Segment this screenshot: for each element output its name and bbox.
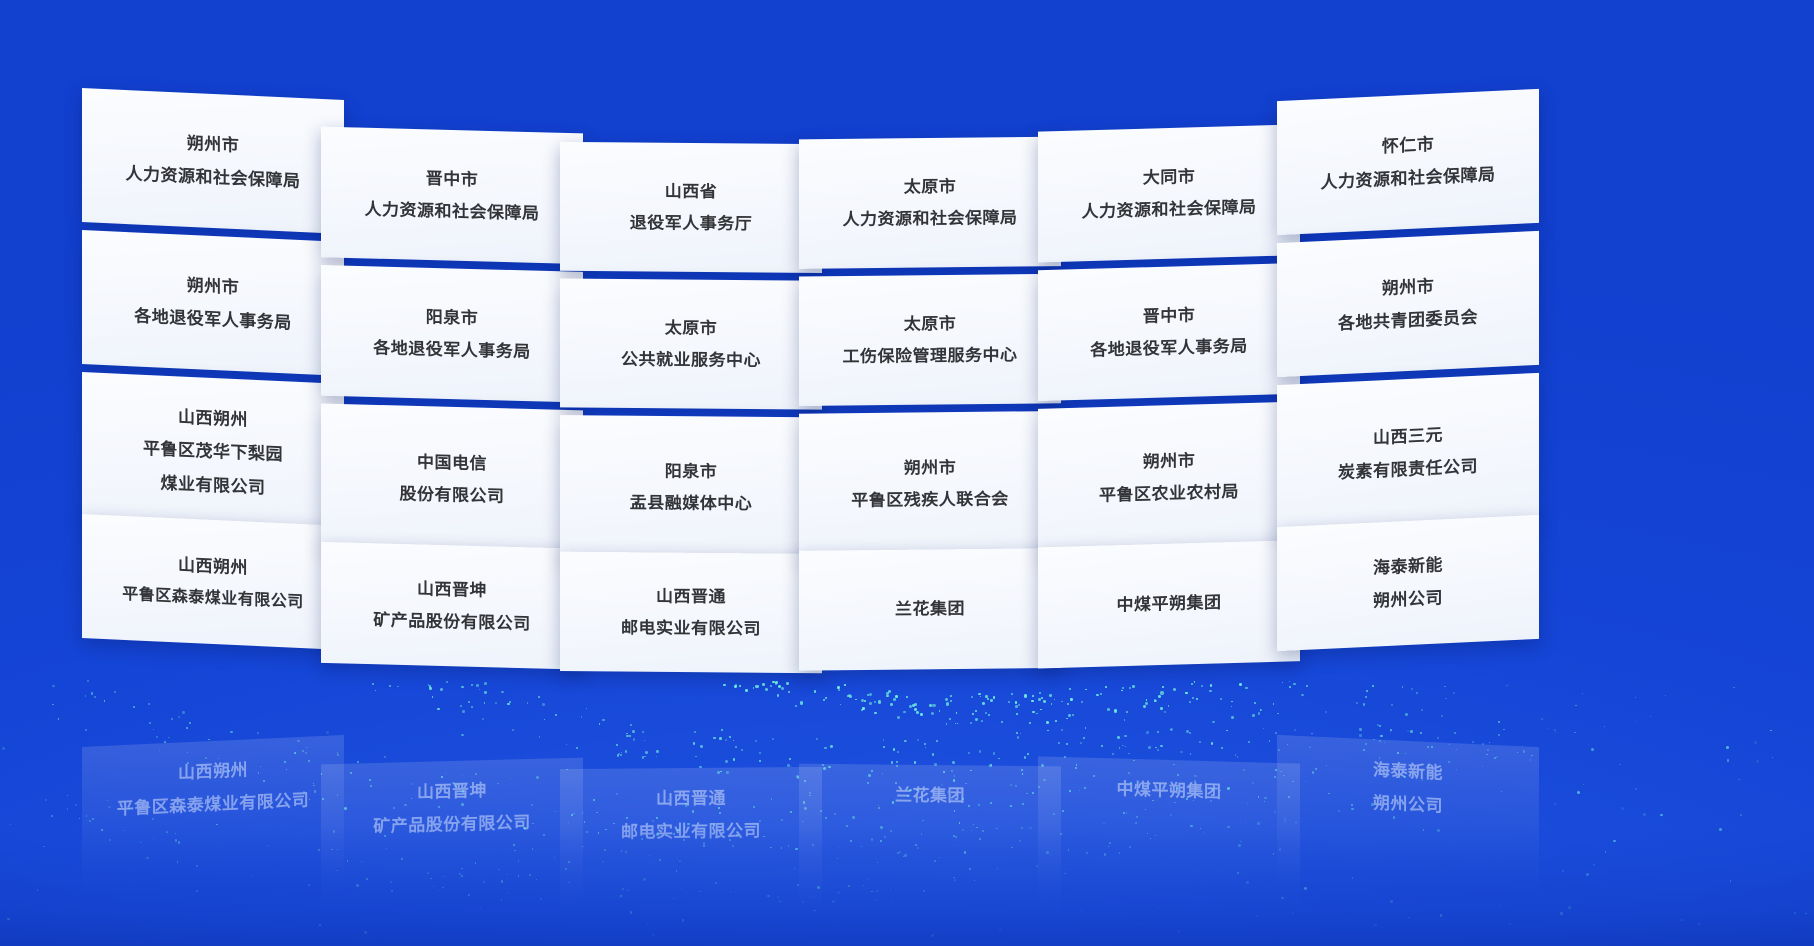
particle-dot <box>7 918 10 921</box>
particle-dot <box>1756 760 1759 763</box>
reflection-column-2: 山西晋坤矿产品股份有限公司 <box>321 757 583 764</box>
particle-dot <box>208 739 209 740</box>
partner-card-line: 山西朔州 <box>178 548 248 584</box>
partner-card-line: 怀仁市 <box>1382 128 1435 164</box>
partner-card[interactable]: 山西三元炭素有限责任公司 <box>1277 373 1539 533</box>
particle-dot <box>772 738 774 740</box>
partner-card-line: 炭素有限责任公司 <box>1338 450 1478 490</box>
particle-dot <box>539 736 541 738</box>
reflection-card-line: 山西晋通 <box>656 782 726 816</box>
partner-card[interactable]: 山西朔州平鲁区森泰煤业有限公司 <box>82 514 344 650</box>
partner-card[interactable]: 大同市人力资源和社会保障局 <box>1038 124 1300 262</box>
particle-dot <box>10 824 11 825</box>
partner-wall-stage: 朔州市人力资源和社会保障局朔州市各地退役军人事务局山西朔州平鲁区茂华下梨园煤业有… <box>0 0 1814 946</box>
partner-card-line: 矿产品股份有限公司 <box>373 604 531 640</box>
partner-card-line: 阳泉市 <box>426 301 479 335</box>
reflection-card-line: 矿产品股份有限公司 <box>373 806 531 843</box>
particle-dot <box>1794 912 1796 914</box>
partner-card-line: 朔州市 <box>187 269 240 305</box>
partner-card-line: 平鲁区残疾人联合会 <box>851 483 1009 517</box>
partner-card-line: 各地退役军人事务局 <box>134 299 292 339</box>
partner-card[interactable]: 朔州市平鲁区农业农村局 <box>1038 402 1300 554</box>
partner-card[interactable]: 朔州市人力资源和社会保障局 <box>82 88 344 234</box>
reflection-card-line: 海泰新能 <box>1373 754 1443 790</box>
partner-card-line: 朔州公司 <box>1373 581 1443 617</box>
partner-card-line: 人力资源和社会保障局 <box>126 157 301 198</box>
partner-card[interactable]: 晋中市人力资源和社会保障局 <box>321 127 583 265</box>
partner-card-line: 股份有限公司 <box>400 478 505 513</box>
partner-card-line: 各地退役军人事务局 <box>1090 330 1248 367</box>
partner-card-line: 邮电实业有限公司 <box>621 612 761 645</box>
partner-card-reflection: 山西晋通邮电实业有限公司 <box>560 767 822 919</box>
partner-card-line: 晋中市 <box>426 162 479 196</box>
wall-column-2: 晋中市人力资源和社会保障局阳泉市各地退役军人事务局中国电信股份有限公司山西晋坤矿… <box>321 127 583 134</box>
partner-card-line: 大同市 <box>1143 160 1196 194</box>
reflection-column-6: 海泰新能朔州公司 <box>1277 735 1539 747</box>
particle-dot <box>633 738 636 741</box>
reflection-card-line: 兰花集团 <box>895 779 965 813</box>
particle-dot <box>713 737 716 740</box>
partner-card[interactable]: 太原市公共就业服务中心 <box>560 278 822 409</box>
particle-dot <box>725 739 727 741</box>
particle-dot <box>1083 737 1085 739</box>
partner-card[interactable]: 海泰新能朔州公司 <box>1277 515 1539 651</box>
partner-card-wall: 朔州市人力资源和社会保障局朔州市各地退役军人事务局山西朔州平鲁区茂华下梨园煤业有… <box>82 96 1732 736</box>
partner-card-line: 朔州市 <box>187 127 240 163</box>
particle-dot <box>883 739 884 740</box>
partner-card-reflection: 中煤平朔集团 <box>1038 756 1300 913</box>
reflection-column-3: 山西晋通邮电实业有限公司 <box>560 767 822 769</box>
partner-card-line: 太原市 <box>665 312 718 344</box>
partner-card-line: 平鲁区农业农村局 <box>1099 475 1239 511</box>
partner-card-line: 山西三元 <box>1373 418 1443 454</box>
reflection-card-line: 邮电实业有限公司 <box>621 814 761 848</box>
particle-dot <box>52 685 54 687</box>
partner-card[interactable]: 朔州市平鲁区残疾人联合会 <box>799 411 1061 557</box>
partner-card-line: 盂县融媒体中心 <box>630 487 753 520</box>
partner-card-reflection: 山西晋坤矿产品股份有限公司 <box>321 757 583 914</box>
partner-card[interactable]: 朔州市各地退役军人事务局 <box>82 230 344 376</box>
partner-card-line: 平鲁区森泰煤业有限公司 <box>122 579 304 618</box>
partner-card-line: 各地共青团委员会 <box>1338 301 1478 341</box>
partner-card-line: 朔州市 <box>1382 270 1435 306</box>
particle-dot <box>1437 737 1439 739</box>
partner-card-line: 海泰新能 <box>1373 548 1443 584</box>
partner-card[interactable]: 太原市人力资源和社会保障局 <box>799 137 1061 269</box>
partner-card-line: 太原市 <box>904 308 957 341</box>
partner-card-line: 公共就业服务中心 <box>621 343 761 376</box>
partner-card-line: 人力资源和社会保障局 <box>1082 191 1257 228</box>
partner-card[interactable]: 朔州市各地共青团委员会 <box>1277 231 1539 377</box>
particle-dot <box>1738 779 1740 781</box>
particle-dot <box>719 737 722 740</box>
particle-dot <box>75 804 77 806</box>
particle-dot <box>816 738 818 740</box>
particle-dot <box>1772 757 1773 758</box>
partner-card-line: 朔州市 <box>1143 444 1196 478</box>
partner-card-line: 人力资源和社会保障局 <box>365 193 540 230</box>
reflection-column-5: 中煤平朔集团 <box>1038 756 1300 763</box>
partner-card-reflection: 山西朔州平鲁区森泰煤业有限公司山西晋坤矿产品股份有限公司山西晋通邮电实业有限公司… <box>82 742 1732 942</box>
partner-card[interactable]: 中国电信股份有限公司 <box>321 403 583 554</box>
partner-card-reflection: 山西朔州平鲁区森泰煤业有限公司 <box>82 735 344 897</box>
partner-card-line: 中国电信 <box>417 446 487 480</box>
partner-card[interactable]: 兰花集团 <box>799 548 1061 671</box>
partner-card[interactable]: 中煤平朔集团 <box>1038 540 1300 668</box>
particle-dot <box>37 889 39 891</box>
particle-dot <box>1754 741 1757 744</box>
partner-card-line: 中煤平朔集团 <box>1117 587 1222 622</box>
partner-card-line: 煤业有限公司 <box>161 466 266 504</box>
particle-dot <box>1733 687 1735 689</box>
partner-card-line: 太原市 <box>904 170 957 203</box>
partner-card[interactable]: 太原市工伤保险管理服务中心 <box>799 274 1061 406</box>
partner-card[interactable]: 山西省退役军人事务厅 <box>560 142 822 273</box>
particle-dot <box>79 818 80 819</box>
wall-column-4: 太原市人力资源和社会保障局太原市工伤保险管理服务中心朔州市平鲁区残疾人联合会兰花… <box>799 137 1061 140</box>
partner-card-line: 各地退役军人事务局 <box>373 332 531 368</box>
particle-dot <box>1117 736 1120 739</box>
particle-dot <box>1805 913 1807 915</box>
partner-card-line: 兰花集团 <box>895 593 965 626</box>
particle-dot <box>58 718 60 720</box>
reflection-card-line: 平鲁区森泰煤业有限公司 <box>117 784 310 826</box>
particle-dot <box>43 846 45 848</box>
wall-column-5: 大同市人力资源和社会保障局晋中市各地退役军人事务局朔州市平鲁区农业农村局中煤平朔… <box>1038 124 1300 131</box>
particle-dot <box>1770 730 1772 732</box>
particle-dot <box>45 799 47 801</box>
reflection-card-line: 山西朔州 <box>178 753 248 789</box>
partner-card[interactable]: 山西晋坤矿产品股份有限公司 <box>321 542 583 670</box>
partner-card-line: 人力资源和社会保障局 <box>1321 158 1496 199</box>
particle-dot <box>67 795 68 796</box>
partner-card-line: 晋中市 <box>1143 299 1196 333</box>
wall-column-6: 怀仁市人力资源和社会保障局朔州市各地共青团委员会山西三元炭素有限责任公司海泰新能… <box>1277 89 1539 101</box>
particle-dot <box>52 704 54 706</box>
particle-dot <box>2 747 5 750</box>
partner-card-reflection: 海泰新能朔州公司 <box>1277 735 1539 897</box>
particle-dot <box>67 808 69 810</box>
reflection-column-4: 兰花集团 <box>799 764 1061 767</box>
partner-card-line: 阳泉市 <box>665 455 718 487</box>
wall-column-1: 朔州市人力资源和社会保障局朔州市各地退役军人事务局山西朔州平鲁区茂华下梨园煤业有… <box>82 88 344 100</box>
partner-card-line: 工伤保险管理服务中心 <box>843 339 1018 373</box>
partner-card[interactable]: 怀仁市人力资源和社会保障局 <box>1277 89 1539 235</box>
reflection-card-line: 山西晋坤 <box>417 774 487 809</box>
wall-column-3: 山西省退役军人事务厅太原市公共就业服务中心阳泉市盂县融媒体中心山西晋通邮电实业有… <box>560 142 822 144</box>
particle-dot <box>1017 736 1019 738</box>
partner-card[interactable]: 阳泉市盂县融媒体中心 <box>560 415 822 560</box>
partner-card-line: 退役军人事务厅 <box>630 207 753 240</box>
partner-card-line: 山西晋通 <box>656 580 726 612</box>
particle-dot <box>1740 814 1742 816</box>
partner-card[interactable]: 晋中市各地退役军人事务局 <box>1038 263 1300 401</box>
particle-dot <box>156 736 158 738</box>
partner-card-reflection: 兰花集团 <box>799 764 1061 917</box>
partner-card[interactable]: 山西朔州平鲁区茂华下梨园煤业有限公司 <box>82 372 344 532</box>
partner-card-line: 朔州市 <box>904 452 957 485</box>
reflection-card-line: 朔州公司 <box>1373 787 1443 823</box>
reflection-column-1: 山西朔州平鲁区森泰煤业有限公司 <box>82 735 344 747</box>
partner-card-line: 山西朔州 <box>178 401 248 437</box>
partner-card[interactable]: 阳泉市各地退役军人事务局 <box>321 265 583 403</box>
particle-dot <box>51 815 53 817</box>
partner-card-line: 山西晋坤 <box>417 573 487 607</box>
particle-dot <box>168 737 169 738</box>
reflection-card-line: 中煤平朔集团 <box>1117 772 1222 808</box>
partner-card-line: 人力资源和社会保障局 <box>843 202 1018 236</box>
partner-card-line: 山西省 <box>665 175 718 207</box>
particle-dot <box>729 736 731 738</box>
partner-card[interactable]: 山西晋通邮电实业有限公司 <box>560 552 822 674</box>
